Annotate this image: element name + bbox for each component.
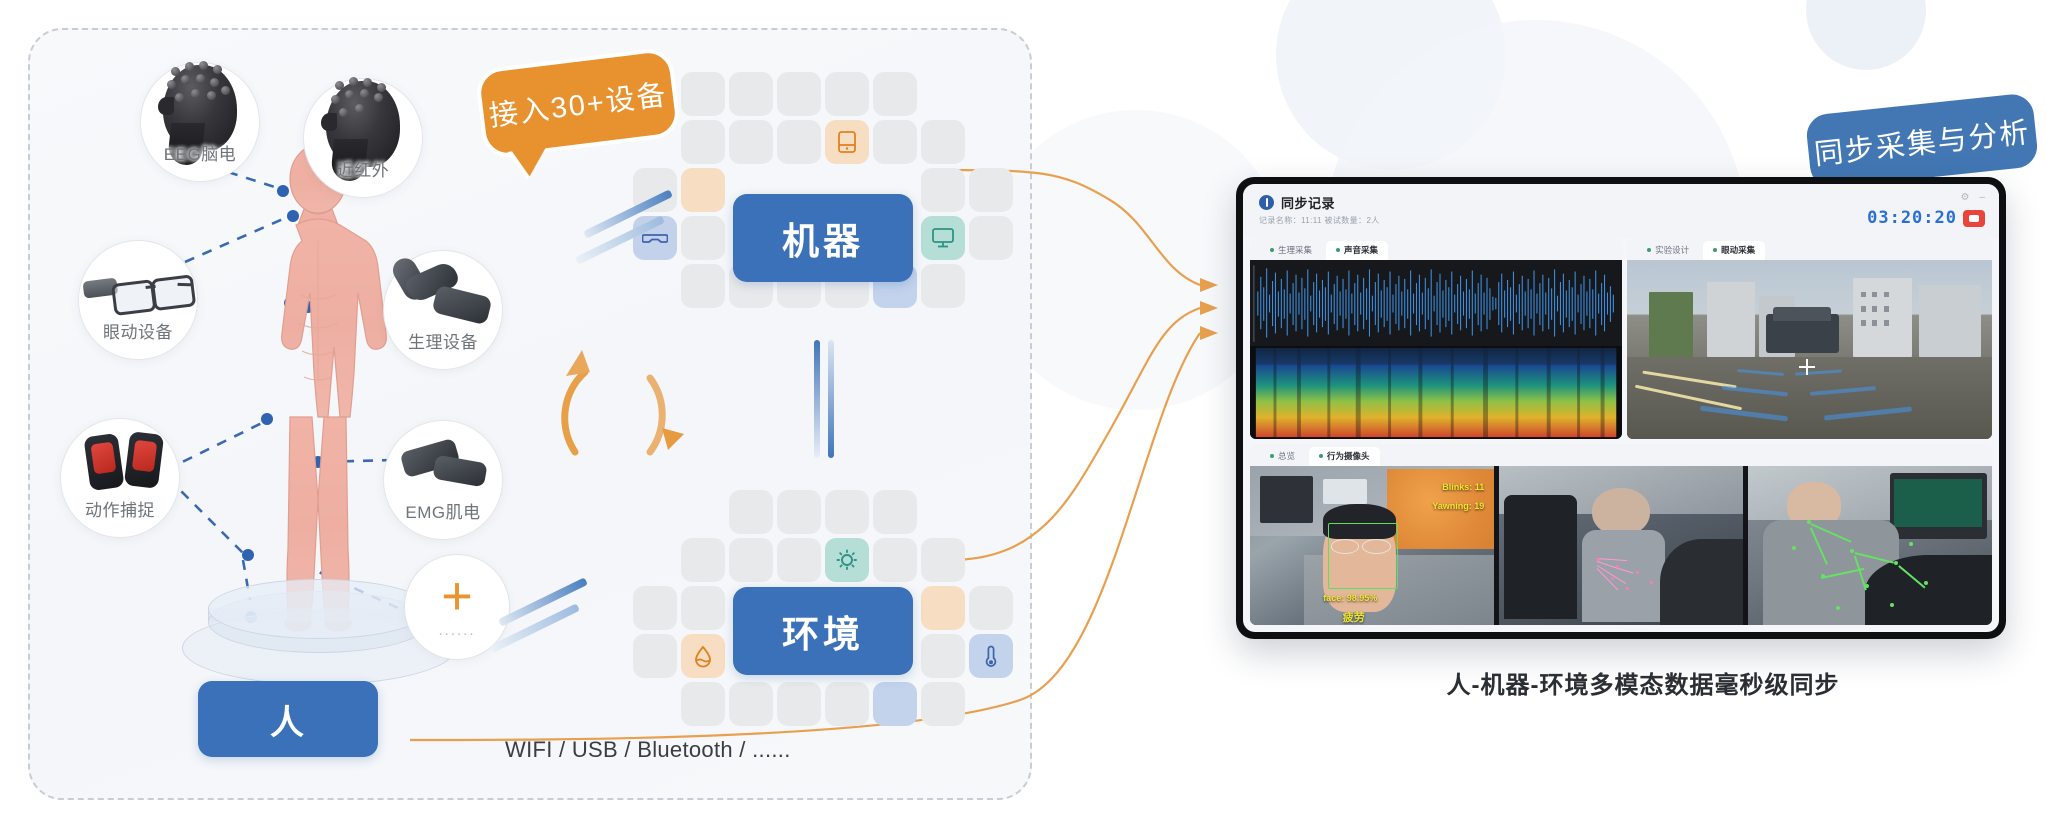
device-badge-physio[interactable]: 生理设备 <box>383 250 503 370</box>
device-badge-emg[interactable]: EMG肌电 <box>383 420 503 540</box>
record-button-icon[interactable] <box>1963 210 1985 227</box>
audio-visualization <box>1250 260 1622 439</box>
gear-icon[interactable]: ⚙ <box>1960 192 1969 203</box>
node-machine[interactable]: 机器 <box>733 194 913 282</box>
status-dot-icon <box>1713 248 1717 252</box>
humidity-drop-icon <box>681 634 725 678</box>
device-label: EEG脑电 <box>164 140 236 181</box>
tabs-behavior[interactable]: 总览 行为摄像头 <box>1250 444 1992 466</box>
recording-timer-group: 03:20:20 <box>1867 208 1985 228</box>
tablet-icon <box>825 120 869 164</box>
plus-icon: + <box>441 575 473 618</box>
thermometer-icon <box>969 634 1013 678</box>
top-row: 生理采集 声音采集 <box>1250 238 1992 439</box>
connectivity-label: WIFI / USB / Bluetooth / ...... <box>505 737 791 763</box>
status-dot-icon <box>1336 248 1340 252</box>
tab-eye-capture[interactable]: 眼动采集 <box>1703 241 1765 260</box>
face-bounding-box <box>1328 523 1398 589</box>
decorative-slash <box>828 340 834 458</box>
minimize-icon[interactable]: – <box>1979 192 1985 203</box>
video-hand-tracking <box>1499 466 1743 625</box>
recording-timer: 03:20:20 <box>1867 208 1957 228</box>
panel-area: 生理采集 声音采集 <box>1243 238 1999 632</box>
tab-behavior-camera[interactable]: 行为摄像头 <box>1309 447 1380 466</box>
device-badge-eyetracker[interactable]: 眼动设备 <box>78 240 198 360</box>
overlay-yawning: Yawning: 19 <box>1432 501 1484 511</box>
tab-audio-capture[interactable]: 声音采集 <box>1326 241 1388 260</box>
device-badge-fnirs[interactable]: 近红外 <box>303 78 423 198</box>
app-screen: 同步记录 记录名称：11:11 被试数量：2人 ⚙ – 03:20:20 <box>1243 184 1999 632</box>
video-pose-estimation <box>1748 466 1992 625</box>
tabs-scene[interactable]: 实验设计 眼动采集 <box>1627 238 1992 260</box>
gaze-crosshair-icon <box>1799 359 1815 375</box>
video-face-detection: Blinks: 11 Yawning: 19 face: 98.95% 疲劳 <box>1250 466 1494 625</box>
app-logo-icon <box>1259 195 1274 210</box>
scene-video <box>1627 260 1992 439</box>
tab-overview[interactable]: 总览 <box>1260 447 1305 466</box>
window-controls[interactable]: ⚙ – <box>1960 192 1985 203</box>
behavior-video-row: Blinks: 11 Yawning: 19 face: 98.95% 疲劳 <box>1250 466 1992 625</box>
device-label: 近红外 <box>337 156 390 197</box>
pane-behavior: 总览 行为摄像头 <box>1250 444 1992 625</box>
waveform-plot <box>1250 260 1622 346</box>
infographic-stage: EEG脑电 近红外 眼动设备 生理设备 <box>0 0 2046 833</box>
more-label: ...... <box>438 622 475 639</box>
dashboard-caption: 人-机器-环境多模态数据毫秒级同步 <box>1443 665 1843 700</box>
app-subtitle: 记录名称：11:11 被试数量：2人 <box>1259 215 1380 226</box>
pane-scene: 实验设计 眼动采集 <box>1627 238 1992 439</box>
callout-device-count-text: 接入30+设备 <box>486 71 669 135</box>
app-header: 同步记录 记录名称：11:11 被试数量：2人 ⚙ – 03:20:20 <box>1243 184 1999 238</box>
status-dot-icon <box>1647 248 1651 252</box>
device-label: 动作捕捉 <box>85 496 155 537</box>
overlay-fatigue-state: 疲劳 <box>1343 609 1365 625</box>
device-badge-mocap[interactable]: 动作捕捉 <box>60 418 180 538</box>
node-environment[interactable]: 环境 <box>733 587 913 675</box>
background-blob <box>1806 0 1926 70</box>
overlay-blinks: Blinks: 11 <box>1442 482 1484 492</box>
spectrogram-plot <box>1250 346 1622 439</box>
device-label: 生理设备 <box>408 328 478 369</box>
status-dot-icon <box>1270 248 1274 252</box>
app-title-group: 同步记录 <box>1259 193 1335 212</box>
overlay-face-confidence: face: 98.95% <box>1323 593 1377 603</box>
pane-audio: 生理采集 声音采集 <box>1250 238 1622 439</box>
tabs-audio[interactable]: 生理采集 声音采集 <box>1250 238 1622 260</box>
device-label: EMG肌电 <box>405 498 480 539</box>
decorative-slash <box>814 340 820 458</box>
monitor-icon <box>921 216 965 260</box>
brightness-icon <box>825 538 869 582</box>
node-human[interactable]: 人 <box>198 681 378 757</box>
device-label: 眼动设备 <box>103 318 173 359</box>
dashboard-screenshot: 同步记录 记录名称：11:11 被试数量：2人 ⚙ – 03:20:20 <box>1236 177 2006 639</box>
human-silhouette <box>218 145 418 665</box>
status-dot-icon <box>1319 454 1323 458</box>
tab-experiment-design[interactable]: 实验设计 <box>1637 241 1699 260</box>
callout-sync-analysis-text: 同步采集与分析 <box>1812 109 2032 173</box>
device-badge-eeg[interactable]: EEG脑电 <box>140 62 260 182</box>
status-dot-icon <box>1270 454 1274 458</box>
driving-scene <box>1627 260 1992 439</box>
tab-physio-capture[interactable]: 生理采集 <box>1260 241 1322 260</box>
app-title: 同步记录 <box>1281 193 1335 212</box>
